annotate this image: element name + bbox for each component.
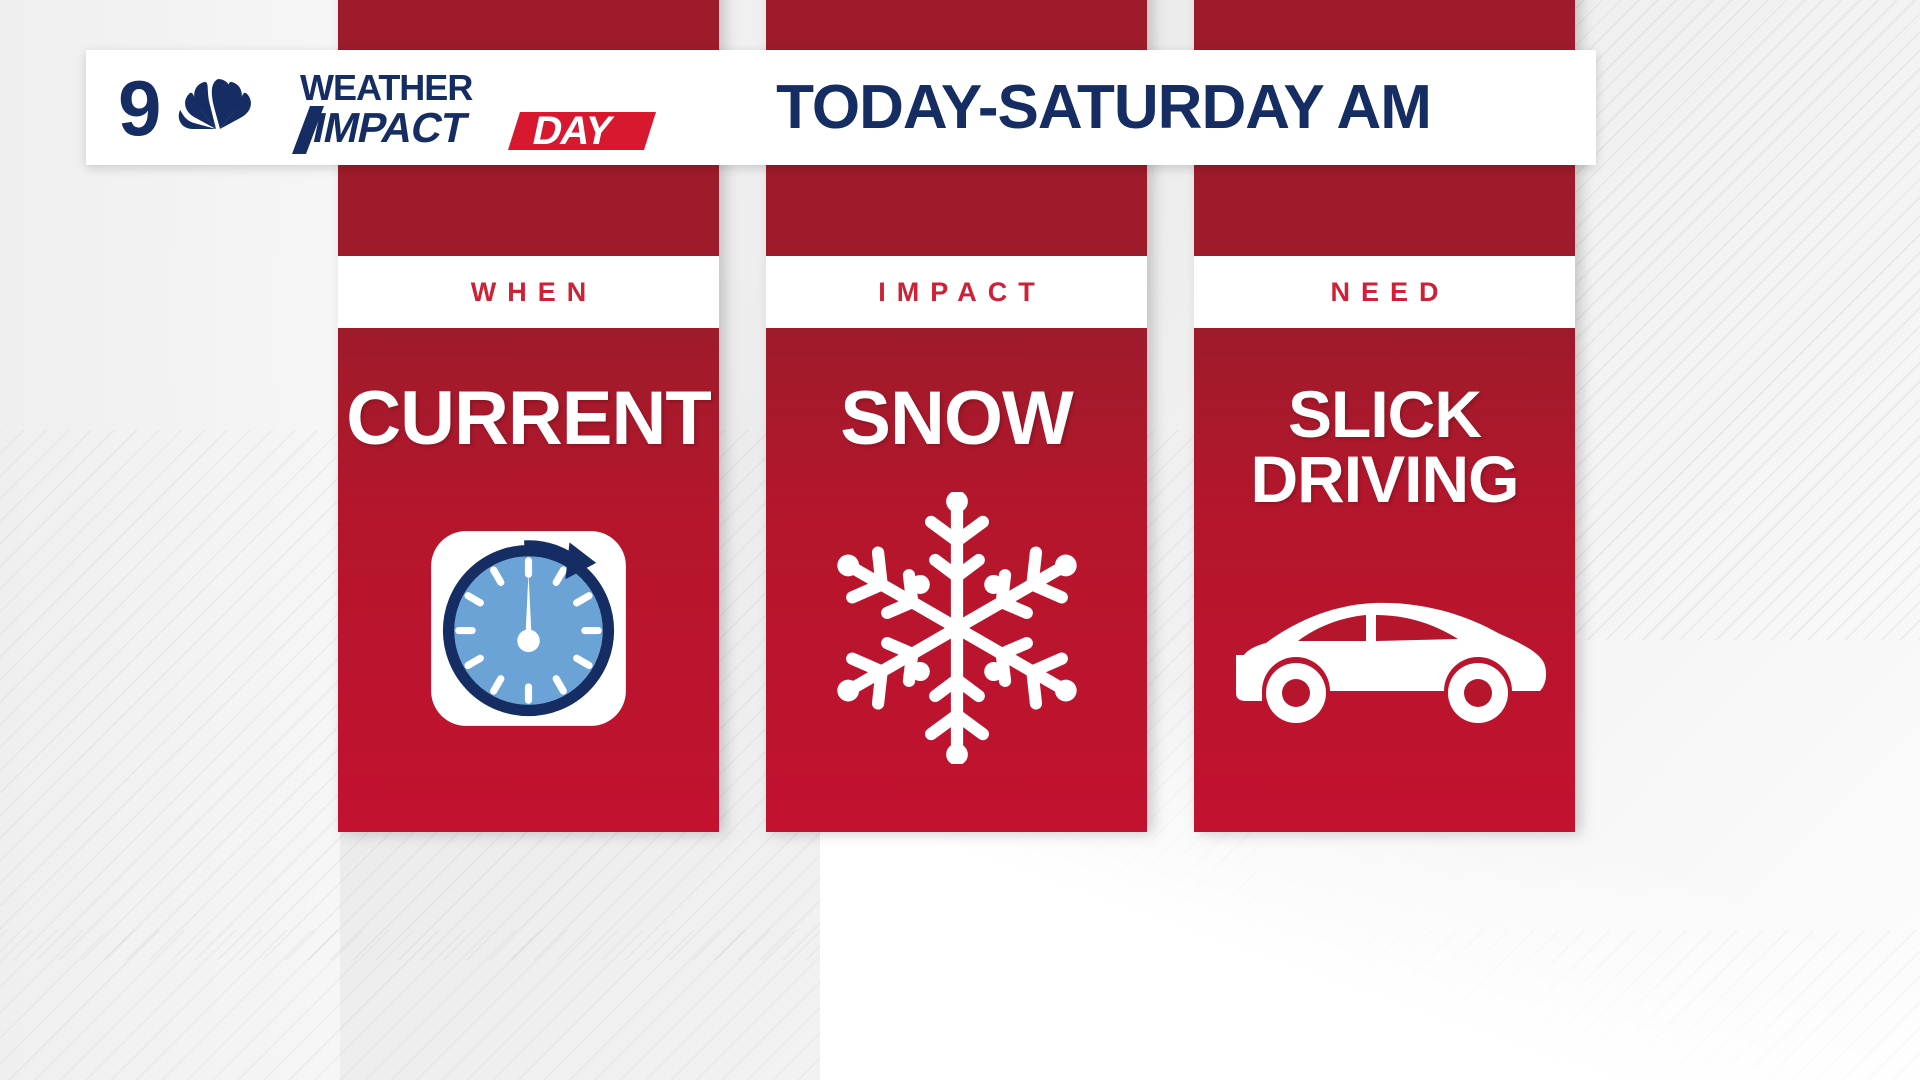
headline-line-1: SLICK [1250, 382, 1518, 447]
nbc-peacock-icon: 9 [118, 65, 286, 151]
column-icon-slot [1194, 511, 1575, 832]
column-icon-slot [766, 456, 1147, 832]
column-label-impact: IMPACT [867, 277, 1046, 308]
snowflake-icon [821, 492, 1093, 769]
column-label-when: WHEN [460, 277, 598, 308]
column-headline-snow: SNOW [832, 382, 1080, 456]
weather-impact-graphic: WHEN CURRENT [0, 0, 1920, 1080]
column-headline-slick-driving: SLICK DRIVING [1242, 382, 1526, 511]
wordmark-day: DAY [529, 107, 617, 152]
column-label-band: NEED [1194, 256, 1575, 328]
clock-icon [426, 526, 631, 736]
wordmark-weather: WEATHER [300, 67, 473, 108]
column-label-band: WHEN [338, 256, 719, 328]
car-icon [1220, 581, 1550, 736]
weather-impact-day-wordmark: WEATHER IMPACT DAY [286, 62, 656, 154]
column-body: SLICK DRIVING [1194, 328, 1575, 832]
column-body: SNOW [766, 328, 1147, 832]
header-bar: 9 WEATHER IMPACT [86, 50, 1596, 165]
headline-line-2: DRIVING [1250, 447, 1518, 512]
column-icon-slot [338, 456, 719, 832]
column-body: CURRENT [338, 328, 719, 832]
wordmark-impact: IMPACT [309, 104, 472, 150]
brand-lockup: 9 WEATHER IMPACT [86, 62, 641, 154]
svg-text:9: 9 [118, 65, 161, 151]
column-label-need: NEED [1319, 277, 1449, 308]
column-headline-current: CURRENT [338, 382, 719, 456]
page-title: TODAY-SATURDAY AM [641, 72, 1596, 143]
column-label-band: IMPACT [766, 256, 1147, 328]
